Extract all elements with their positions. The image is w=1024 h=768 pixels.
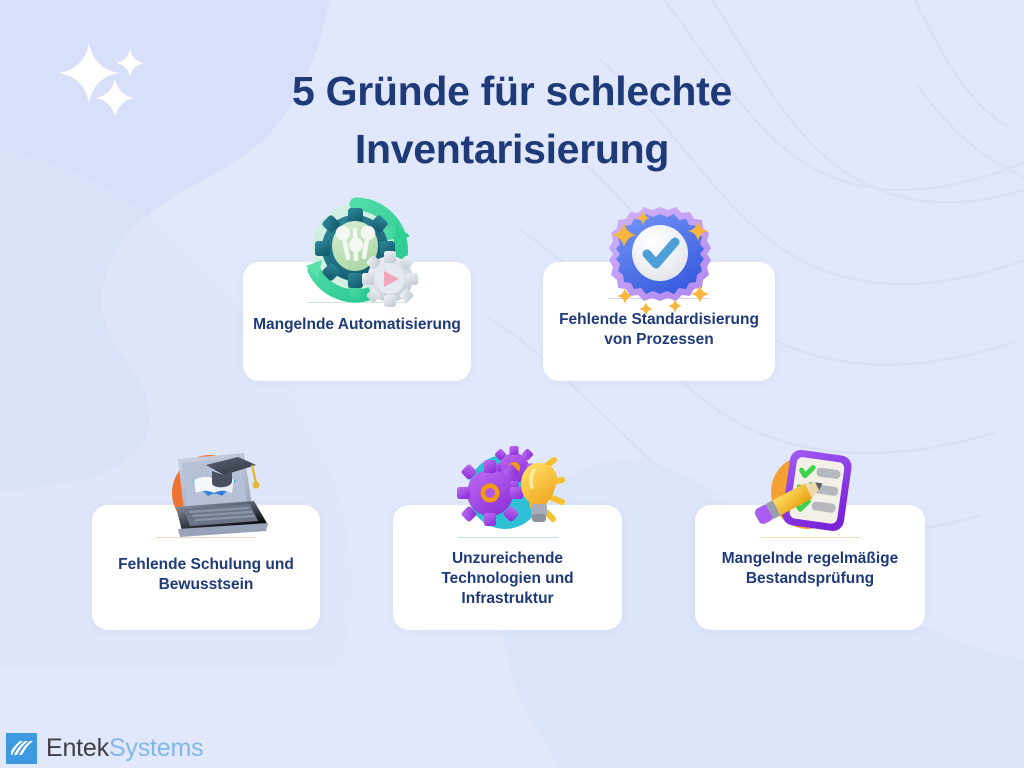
gears-lightbulb-technology-icon	[452, 446, 566, 538]
page-title-line-2: Inventarisierung	[355, 126, 669, 172]
gear-automation-icon	[298, 196, 422, 320]
reason-card-label: Unzureichende Technologien und Infrastru…	[393, 549, 622, 609]
laptop-graduation-training-icon	[152, 443, 272, 539]
logo-word-systems: Systems	[109, 734, 203, 762]
verified-check-badge-icon	[601, 199, 719, 317]
logo-word-entek: Entek	[46, 734, 109, 762]
entek-slashes-mark-icon	[6, 733, 37, 764]
page-title: 5 Gründe für schlechte Inventarisierung	[0, 62, 1024, 178]
reason-card-label: Mangelnde regelmäßige Bestandsprüfung	[695, 549, 925, 589]
logo-text: EntekSystems	[46, 734, 203, 763]
reason-card-label: Fehlende Schulung und Bewusstsein	[92, 555, 320, 595]
clipboard-checklist-pencil-icon	[750, 446, 870, 540]
gear-large	[457, 460, 523, 526]
logo[interactable]: EntekSystems	[6, 733, 203, 764]
page-title-line-1: 5 Gründe für schlechte	[292, 68, 732, 114]
